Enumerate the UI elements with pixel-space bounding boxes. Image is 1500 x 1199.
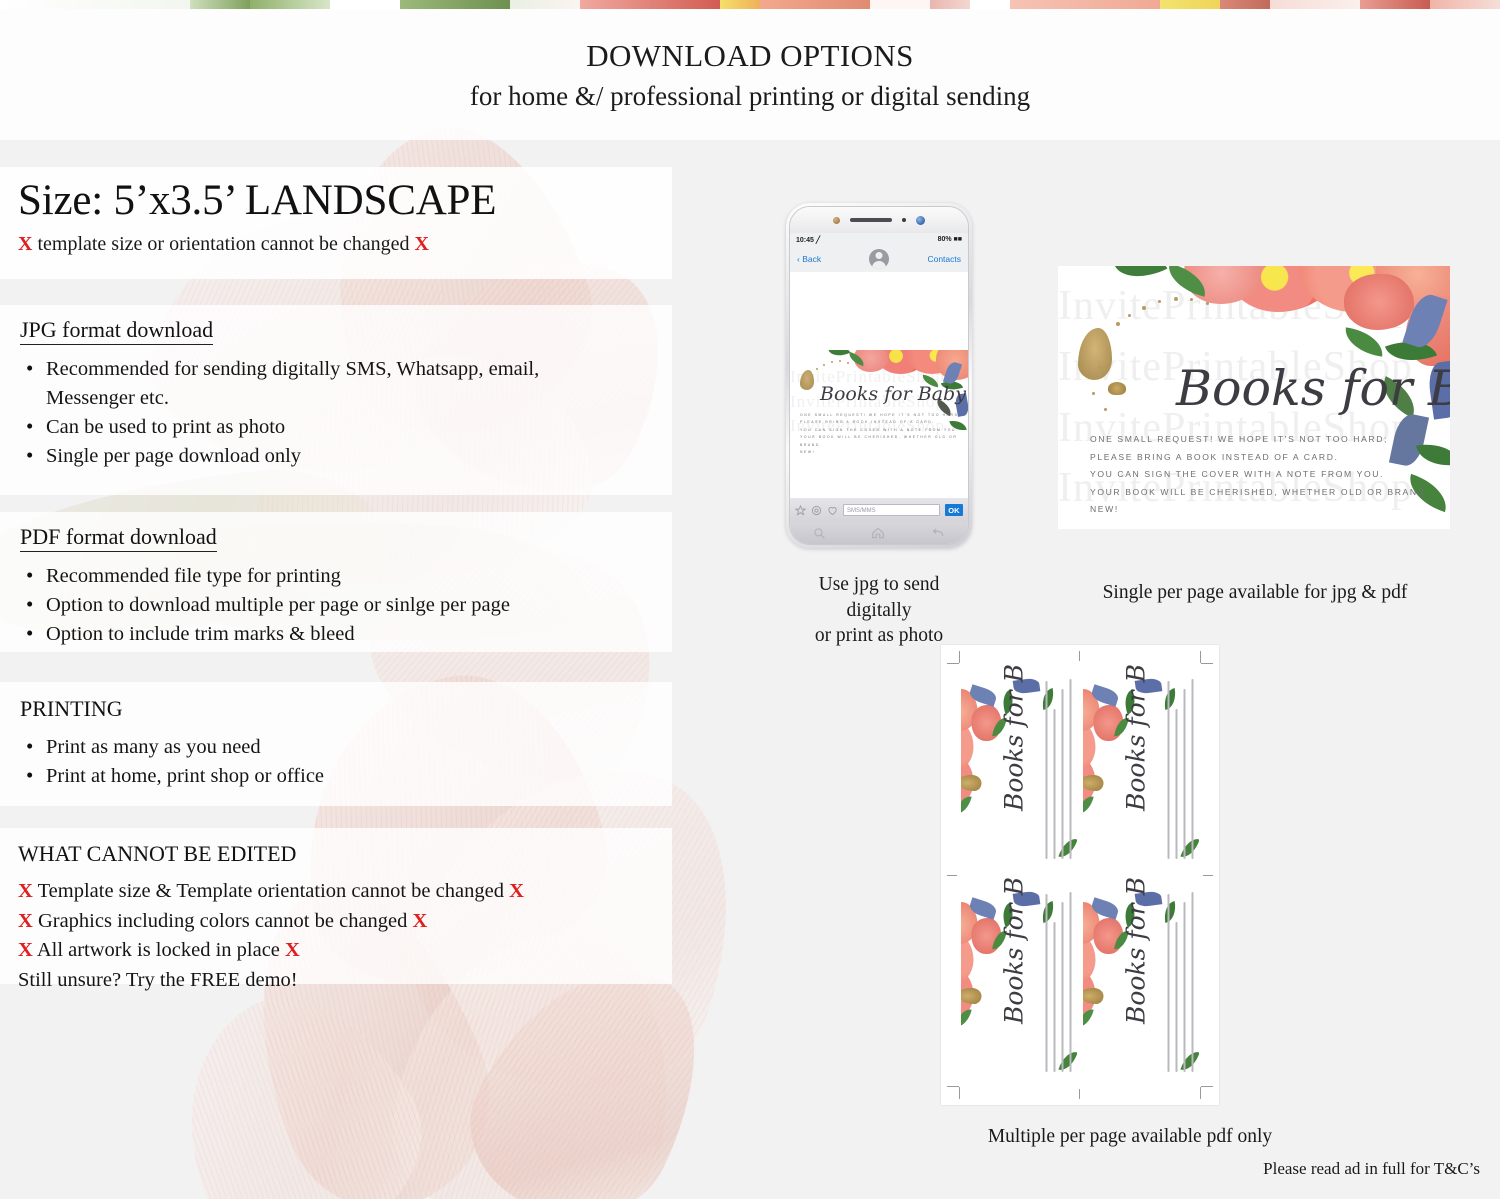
list-item: Print as many as you need [20,733,672,762]
page-title: DOWNLOAD OPTIONS [586,37,914,76]
pdf-bullet-list: Recommended file type for printing Optio… [20,562,672,649]
home-icon[interactable] [871,526,885,540]
fairy-icon [800,370,814,390]
phone-nav-bar: ‹ Back Contacts [790,246,968,272]
size-note-text: template size or orientation cannot be c… [37,233,409,255]
send-ok-button[interactable]: OK [945,504,963,516]
size-note: X template size or orientation cannot be… [18,233,672,256]
free-demo-line: Still unsure? Try the FREE demo! [18,966,672,996]
cannot-edit-panel: WHAT CANNOT BE EDITED X Template size & … [0,828,672,984]
warning-x-icon: X [285,939,300,961]
sms-input[interactable]: SMS/MMS [843,504,940,516]
warning-x-icon: X [18,939,33,961]
cannot-edit-heading: WHAT CANNOT BE EDITED [18,841,296,868]
selfie-camera-icon [916,216,925,225]
phone-compose-bar: SMS/MMS OK [790,498,968,522]
avatar [869,249,889,269]
proximity-sensor-icon [902,218,906,222]
fairy-icon [1078,328,1112,380]
back-button[interactable]: ‹ Back [797,254,821,264]
mini-card: Books for Baby [961,665,1077,873]
fairy-icon [1083,988,1104,1004]
status-battery: 80% ■■ [938,236,962,243]
card-script-title: Books for Baby [1000,878,1029,1024]
cannot-edit-line-text: All artwork is locked in place [37,939,280,961]
back-icon[interactable] [931,526,945,540]
list-item: Single per page download only [20,442,672,471]
cannot-edit-line: X Graphics including colors cannot be ch… [18,907,672,937]
list-item: Messenger etc. [20,384,672,413]
list-item: Recommended for sending digitally SMS, W… [20,355,672,384]
pdf-panel: PDF format download Recommended file typ… [0,512,672,652]
printing-heading: PRINTING [20,696,123,723]
list-item: Print at home, print shop or office [20,762,672,791]
warning-x-icon: X [18,880,33,902]
printing-panel: PRINTING Print as many as you need Print… [0,682,672,806]
printing-bullet-list: Print as many as you need Print at home,… [20,733,672,791]
card-script-title: Books for Baby [1176,360,1450,417]
warning-x-icon: X [18,233,32,255]
emoji-icon[interactable] [811,505,822,516]
invitation-card-large: InvitePrintableShopInvitePrintableShop I… [1058,266,1450,529]
search-icon[interactable] [813,527,826,540]
phone-caption: Use jpg to send digitally or print as ph… [786,572,972,649]
mini-card: Books for Baby [1083,665,1199,873]
poster-canvas: DOWNLOAD OPTIONS for home &/ professiona… [0,0,1500,1199]
phone-earpiece-row [790,207,968,233]
poster-header: DOWNLOAD OPTIONS for home &/ professiona… [0,9,1500,140]
fairy-icon [1083,775,1104,791]
multi-sheet-caption: Multiple per page available pdf only [900,1124,1360,1150]
card-script-title: Books for Baby [1122,665,1151,811]
phone-screen-frame: 10:45 ╱ 80% ■■ ‹ Back Contacts InvitePri… [789,206,969,545]
invitation-card-thumbnail: InvitePrintableShopInvitePrintableShopIn… [790,350,968,454]
terms-note: Please read ad in full for T&C’s [1100,1158,1480,1180]
card-body-line: NEW! [1090,501,1425,519]
fairy-icon [961,988,982,1004]
single-card-caption: Single per page available for jpg & pdf [1040,580,1470,606]
fairy-icon [961,775,982,791]
list-item: Option to download multiple per page or … [20,591,672,620]
cannot-edit-line: X Template size & Template orientation c… [18,877,672,907]
card-script-title: Books for Baby [1122,878,1151,1024]
jpg-panel: JPG format download Recommended for send… [0,305,672,495]
earpiece-speaker-icon [850,218,892,222]
card-body-text: ONE SMALL REQUEST! WE HOPE IT’S NOT TOO … [1090,431,1425,519]
card-body-line: ONE SMALL REQUEST! WE HOPE IT’S NOT TOO … [1090,431,1425,449]
multi-per-page-sheet: Books for Baby [941,645,1219,1105]
front-camera-icon [833,217,840,224]
warning-x-icon: X [413,910,428,932]
warning-x-icon: X [18,910,33,932]
heart-icon[interactable] [827,505,838,516]
warning-x-icon: X [415,233,429,255]
top-floral-strip [0,0,1500,9]
butterfly-icon [1108,382,1126,395]
phone-status-bar: 10:45 ╱ 80% ■■ [790,233,968,246]
mini-card: Books for Baby [1083,878,1199,1086]
cannot-edit-line-text: Template size & Template orientation can… [38,880,504,902]
phone-system-nav [790,522,968,544]
size-panel: Size: 5’x3.5’ LANDSCAPE X template size … [0,167,672,279]
phone-message-area: InvitePrintableShopInvitePrintableShopIn… [790,272,968,498]
star-icon[interactable] [795,505,806,516]
signal-icon: ╱ [816,237,819,244]
cannot-edit-line-text: Graphics including colors cannot be chan… [38,910,407,932]
contacts-button[interactable]: Contacts [927,254,961,264]
list-item: Option to include trim marks & bleed [20,620,672,649]
card-body-line: YOU CAN SIGN THE COVER WITH A NOTE FROM … [1090,466,1425,484]
cannot-edit-line: X All artwork is locked in place X [18,936,672,966]
list-item: Recommended file type for printing [20,562,672,591]
phone-mockup: 10:45 ╱ 80% ■■ ‹ Back Contacts InvitePri… [786,203,972,548]
card-body-line: YOUR BOOK WILL BE CHERISHED, WHETHER OLD… [1090,484,1425,502]
page-subtitle: for home &/ professional printing or dig… [470,80,1030,112]
status-time: 10:45 ╱ [796,236,819,244]
card-body-text: ONE SMALL REQUEST! WE HOPE IT’S NOT TOO … [800,412,968,454]
card-script-title: Books for Baby [820,383,966,405]
phone-caption-line1: Use jpg to send digitally [786,572,972,623]
warning-x-icon: X [509,880,524,902]
size-title: Size: 5’x3.5’ LANDSCAPE [18,177,672,224]
jpg-bullet-list: Recommended for sending digitally SMS, W… [20,355,672,471]
pdf-heading: PDF format download [20,524,217,552]
card-script-title: Books for Baby [1000,665,1029,811]
battery-icon: ■■ [954,236,962,243]
jpg-heading: JPG format download [20,317,213,345]
list-item: Can be used to print as photo [20,413,672,442]
mini-card: Books for Baby [961,878,1077,1086]
card-body-line: PLEASE BRING A BOOK INSTEAD OF A CARD. [1090,449,1425,467]
